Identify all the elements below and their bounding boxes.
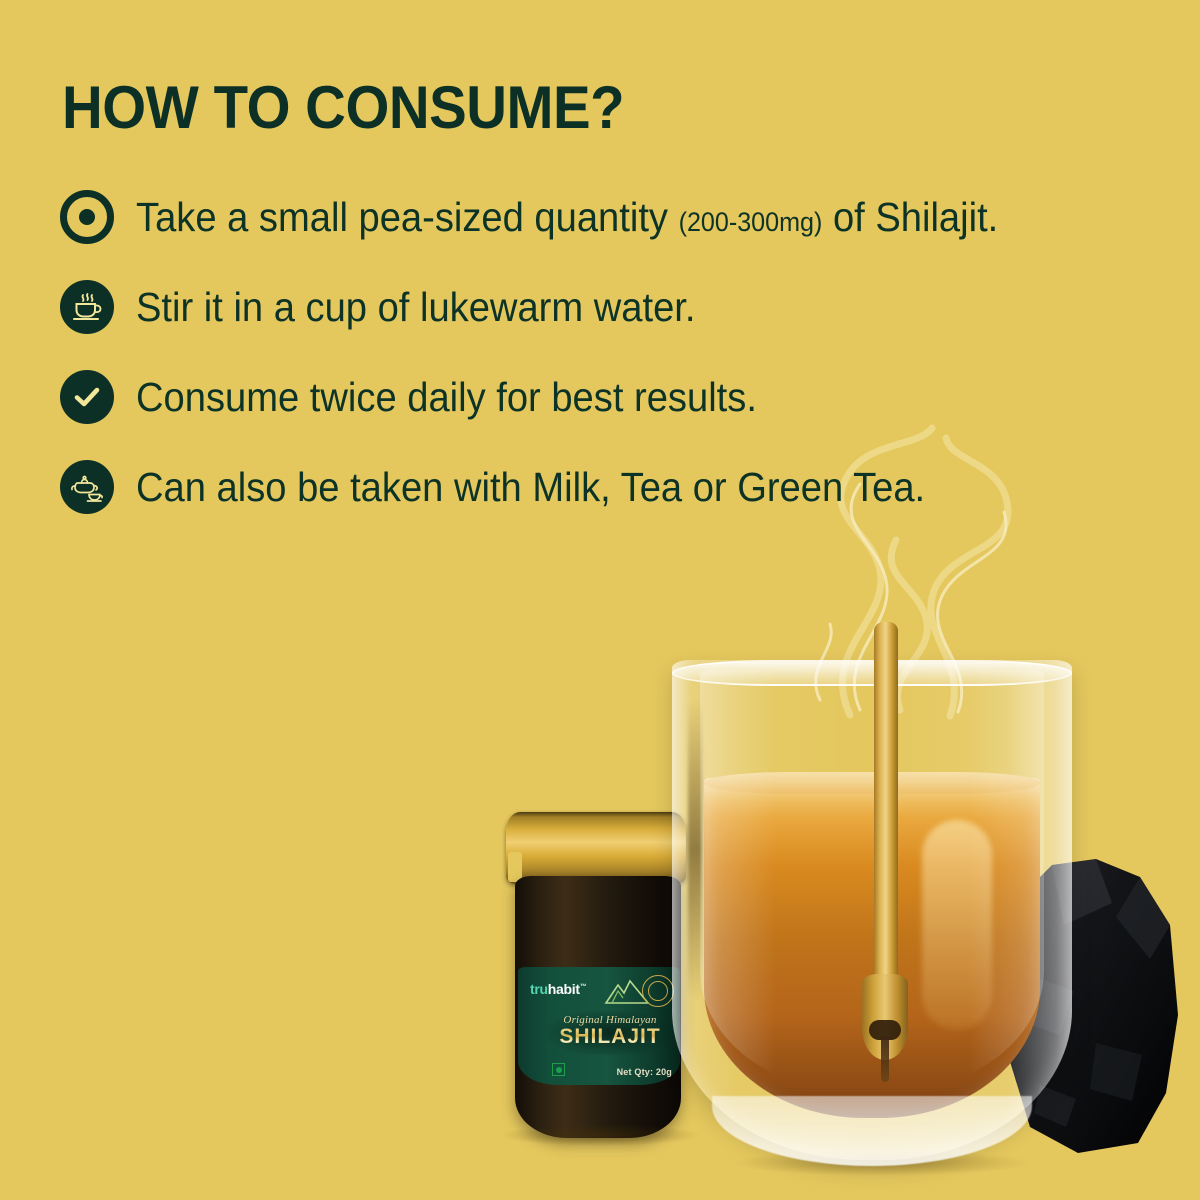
jar-lid — [506, 812, 686, 884]
target-icon — [60, 190, 114, 244]
step-text: Stir it in a cup of lukewarm water. — [136, 287, 695, 328]
brand-habit: habit — [548, 981, 580, 997]
jar-shadow — [500, 1124, 700, 1146]
tea-surface — [704, 772, 1040, 794]
tea-highlight — [922, 820, 992, 1030]
glass-shine — [688, 700, 702, 1000]
coffee-cup-icon — [60, 280, 114, 334]
page-title: HOW TO CONSUME? — [62, 78, 624, 138]
shilajit-rock-icon — [1000, 855, 1190, 1155]
glass-outer-wall — [672, 660, 1072, 1160]
shilajit-resin — [869, 1020, 901, 1040]
promo-poster: truhabit™ Original Himalayan SHILAJIT Ne… — [0, 0, 1200, 1200]
jar-body — [515, 876, 681, 1138]
list-item: Can also be taken with Milk, Tea or Gree… — [60, 456, 1170, 518]
tea-glass — [672, 660, 1072, 1160]
steps-list: Take a small pea-sized quantity (200-300… — [60, 186, 1170, 546]
list-item: Stir it in a cup of lukewarm water. — [60, 276, 1170, 338]
label-subtitle: Original Himalayan — [548, 1014, 672, 1026]
step-text-main: Take a small pea-sized quantity — [136, 194, 668, 240]
label-plate: Original Himalayan SHILAJIT — [548, 1011, 672, 1055]
step-text-tail: of Shilajit. — [833, 194, 998, 240]
glass-rim — [672, 660, 1072, 686]
brand-wordmark: truhabit™ — [530, 981, 586, 997]
label-title: SHILAJIT — [548, 1026, 672, 1048]
spoon-handle — [874, 622, 898, 1002]
product-photo-composition: truhabit™ Original Himalayan SHILAJIT Ne… — [0, 0, 1200, 1200]
step-text: Can also be taken with Milk, Tea or Gree… — [136, 467, 925, 508]
glass-shadow — [732, 1150, 1032, 1176]
step-text: Take a small pea-sized quantity (200-300… — [136, 197, 998, 238]
net-quantity: Net Qty: 20g — [617, 1067, 672, 1077]
mountain-icon — [604, 979, 650, 1005]
shilajit-jar: truhabit™ Original Himalayan SHILAJIT Ne… — [498, 812, 698, 1142]
gold-spoon — [862, 622, 908, 1102]
jar-label: truhabit™ Original Himalayan SHILAJIT Ne… — [518, 967, 680, 1085]
glass-inner-wall — [700, 670, 1044, 1090]
glass-base — [712, 1096, 1032, 1166]
step-text: Consume twice daily for best results. — [136, 377, 757, 418]
shilajit-resin-drip — [881, 1036, 889, 1082]
natural-seal-badge — [642, 975, 674, 1007]
teapot-icon — [60, 460, 114, 514]
spoon-bowl — [862, 974, 908, 1060]
list-item: Take a small pea-sized quantity (200-300… — [60, 186, 1170, 248]
veg-mark-icon — [552, 1063, 565, 1076]
brand-tru: tru — [530, 981, 548, 997]
step-text-dosage: (200-300mg) — [679, 207, 823, 237]
trademark-symbol: ™ — [580, 983, 587, 990]
list-item: Consume twice daily for best results. — [60, 366, 1170, 428]
tea-liquid — [704, 778, 1040, 1118]
check-circle-icon — [60, 370, 114, 424]
